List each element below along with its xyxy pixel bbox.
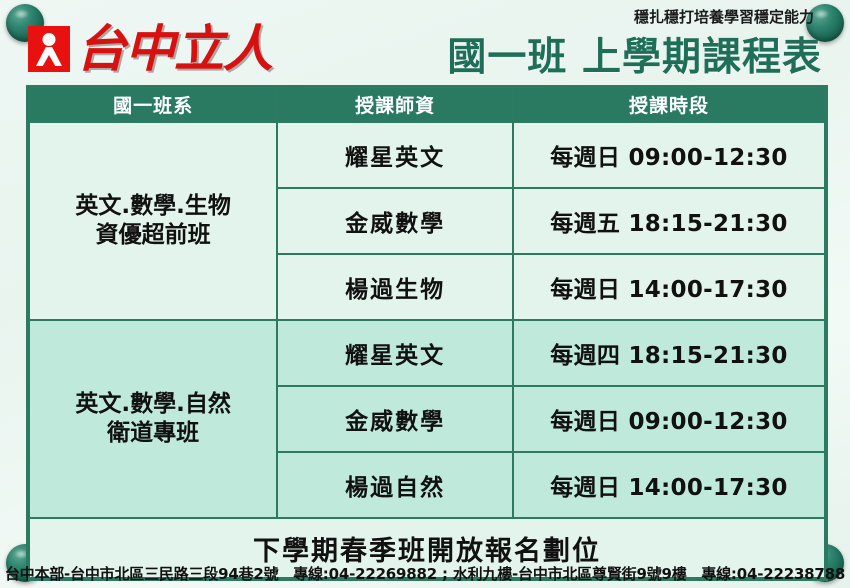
time-cell: 每週日 14:00-17:30 — [513, 452, 825, 518]
time-cell: 每週日 09:00-12:30 — [513, 386, 825, 452]
course-schedule-poster: 台中立人 穩扎穩打培養學習穩定能力 國一班 上學期課程表 國一班系 授課師資 授… — [0, 0, 850, 588]
time-cell: 每週四 18:15-21:30 — [513, 320, 825, 386]
group-name-line-2: 資優超前班 — [96, 222, 211, 248]
group-name-line-2: 衛道專班 — [107, 420, 199, 446]
table-row: 英文.數學.自然 衛道專班 耀星英文 每週四 18:15-21:30 — [29, 320, 825, 386]
time-cell: 每週五 18:15-21:30 — [513, 188, 825, 254]
column-header-time: 授課時段 — [513, 88, 825, 122]
person-logo-icon — [28, 26, 70, 72]
group-name-cell-2: 英文.數學.自然 衛道專班 — [29, 320, 277, 518]
teacher-cell: 楊過生物 — [277, 254, 513, 320]
teacher-cell: 楊過自然 — [277, 452, 513, 518]
teacher-cell: 金威數學 — [277, 386, 513, 452]
schedule-table-wrapper: 國一班系 授課師資 授課時段 英文.數學.生物 資優超前班 耀星英文 每週日 0… — [26, 85, 828, 581]
footer-address: 台中本部-台中市北區三民路三段94巷2號 專線:04-22269882 ; 水利… — [0, 563, 850, 584]
header-row: 國一班系 授課師資 授課時段 — [29, 88, 825, 122]
page-title: 國一班 上學期課程表 — [447, 26, 822, 82]
table-header: 國一班系 授課師資 授課時段 — [29, 88, 825, 122]
time-cell: 每週日 09:00-12:30 — [513, 122, 825, 188]
group-name-line-1: 英文.數學.自然 — [75, 391, 230, 417]
column-header-teacher: 授課師資 — [277, 88, 513, 122]
teacher-cell: 耀星英文 — [277, 122, 513, 188]
group-name-cell-1: 英文.數學.生物 資優超前班 — [29, 122, 277, 320]
person-body-shape — [36, 47, 62, 66]
brand-logo: 台中立人 — [28, 24, 272, 74]
schedule-table: 國一班系 授課師資 授課時段 英文.數學.生物 資優超前班 耀星英文 每週日 0… — [28, 87, 826, 579]
brand-name: 台中立人 — [76, 24, 272, 74]
tagline: 穩扎穩打培養學習穩定能力 — [634, 6, 814, 27]
teacher-cell: 金威數學 — [277, 188, 513, 254]
table-body: 英文.數學.生物 資優超前班 耀星英文 每週日 09:00-12:30 金威數學… — [29, 122, 825, 578]
poster-header: 台中立人 穩扎穩打培養學習穩定能力 國一班 上學期課程表 — [0, 0, 850, 86]
person-head-shape — [43, 33, 56, 46]
table-row: 英文.數學.生物 資優超前班 耀星英文 每週日 09:00-12:30 — [29, 122, 825, 188]
column-header-class: 國一班系 — [29, 88, 277, 122]
group-name-line-1: 英文.數學.生物 — [75, 193, 230, 219]
teacher-cell: 耀星英文 — [277, 320, 513, 386]
time-cell: 每週日 14:00-17:30 — [513, 254, 825, 320]
